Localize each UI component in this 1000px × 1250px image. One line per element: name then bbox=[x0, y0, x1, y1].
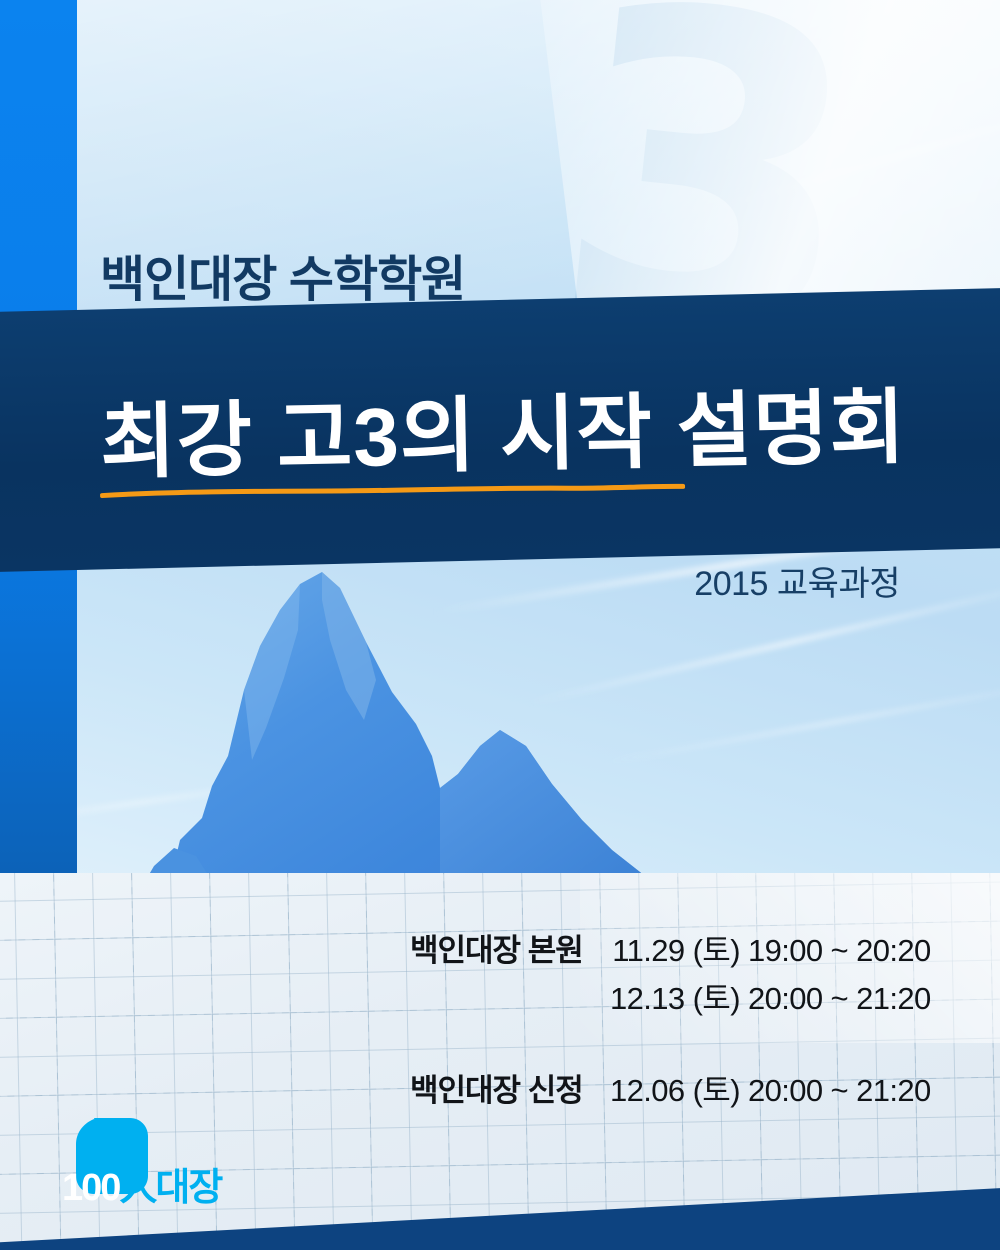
schedule-time: 11.29 (토) 19:00 ~ 20:20 bbox=[610, 927, 931, 975]
schedule-row: 백인대장 본원 11.29 (토) 19:00 ~ 20:20 12.13 (토… bbox=[410, 925, 910, 1023]
academy-name: 백인대장 수학학원 bbox=[100, 240, 465, 311]
brand-logo: 100人대장 bbox=[62, 1118, 242, 1210]
subtitle-curriculum: 2015 교육과정 bbox=[694, 556, 900, 605]
schedule-row: 백인대장 신정 12.06 (토) 20:00 ~ 21:20 bbox=[410, 1065, 910, 1115]
schedule-times: 12.06 (토) 20:00 ~ 21:20 bbox=[610, 1067, 931, 1115]
page-title: 최강 고3의 시작 설명회 bbox=[99, 360, 907, 494]
schedule-block: 백인대장 본원 11.29 (토) 19:00 ~ 20:20 12.13 (토… bbox=[410, 925, 910, 1125]
schedule-location-label: 백인대장 본원 bbox=[410, 925, 610, 970]
mountain-peak-photo bbox=[140, 560, 760, 890]
logo-text: 100人대장 bbox=[62, 1156, 242, 1211]
promotional-poster: 3 bbox=[0, 0, 1000, 1250]
logo-suffix: 人대장 bbox=[119, 1167, 221, 1209]
schedule-location-label: 백인대장 신정 bbox=[410, 1065, 610, 1110]
schedule-times: 11.29 (토) 19:00 ~ 20:20 12.13 (토) 20:00 … bbox=[610, 927, 931, 1023]
logo-number: 100 bbox=[62, 1167, 119, 1209]
schedule-time: 12.13 (토) 20:00 ~ 21:20 bbox=[610, 975, 931, 1023]
schedule-time: 12.06 (토) 20:00 ~ 21:20 bbox=[610, 1067, 931, 1115]
